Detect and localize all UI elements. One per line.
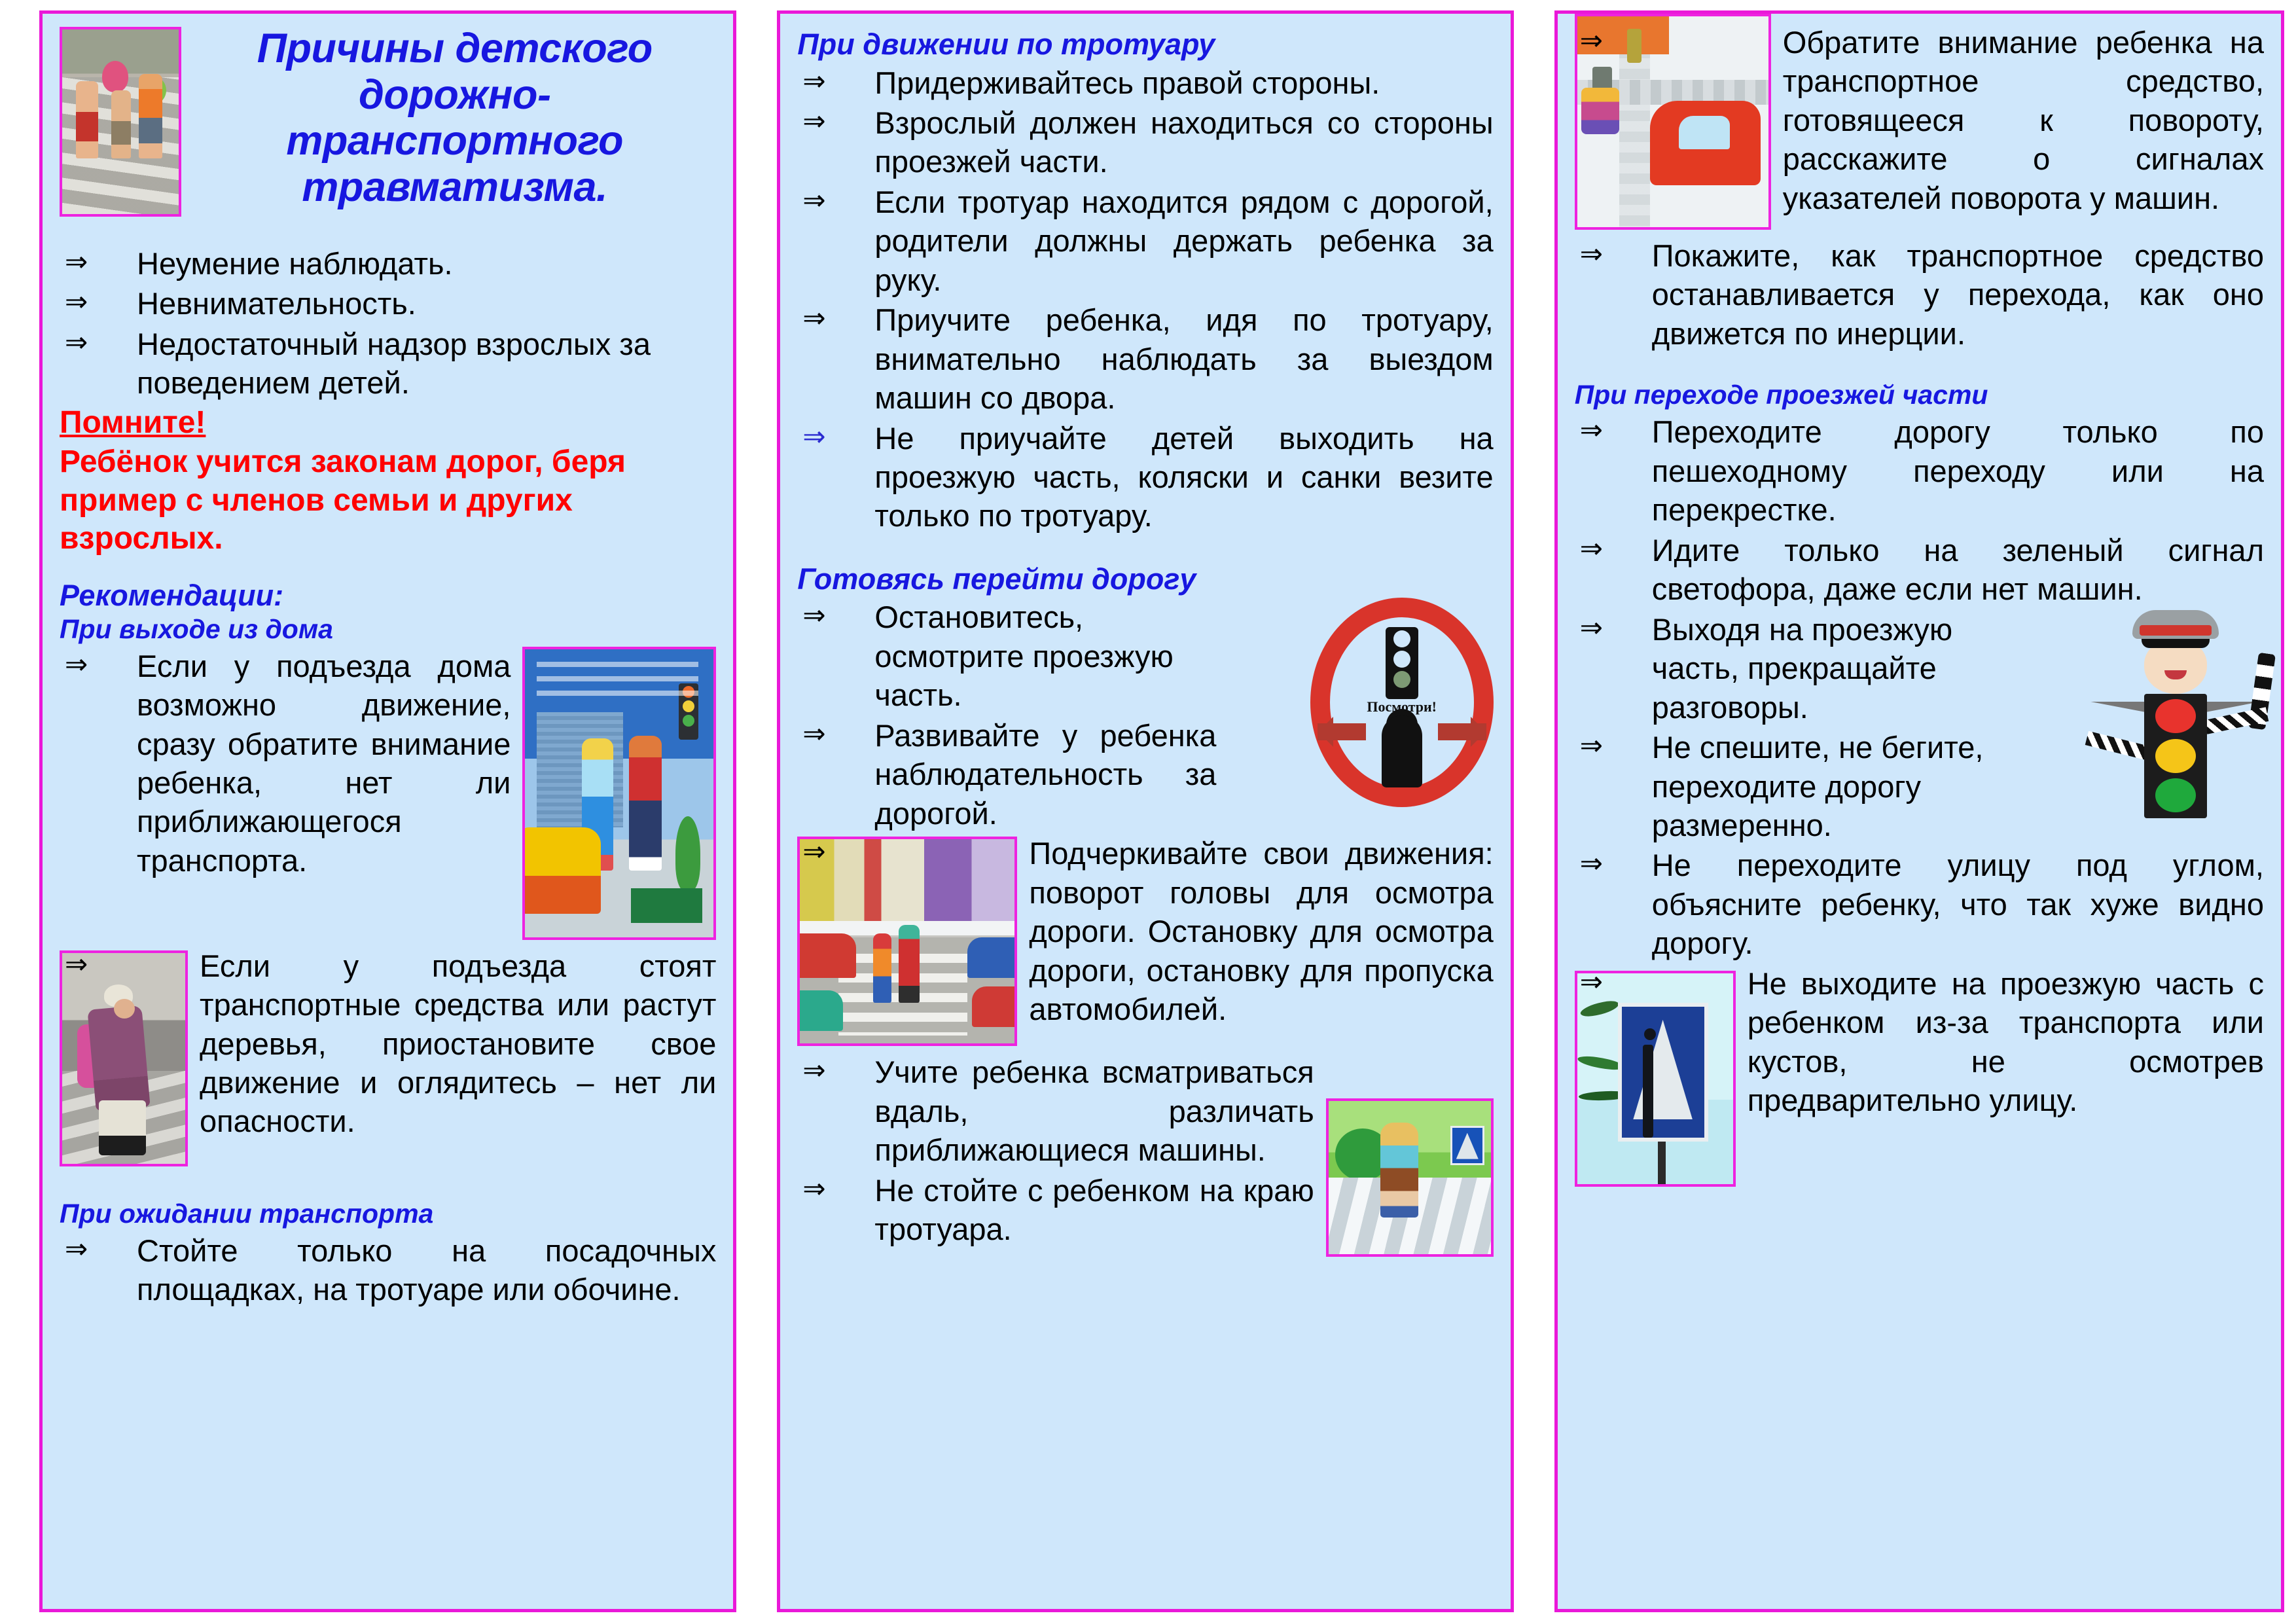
brochure-sheet: Причины детского дорожно-транспортного т…	[0, 0, 2296, 1624]
list-item: Выходя на проезжую часть, прекращайте ра…	[1575, 610, 2033, 727]
crossing-list-d: Не выходите на проезжую часть с ребенком…	[1575, 964, 2264, 1120]
preparing-cross-list-2: Подчеркивайте свои движения: поворот гол…	[797, 834, 1493, 1028]
remember-block: Помните! Ребёнок учится законам дорог, б…	[60, 404, 716, 558]
photo-children-crosswalk	[60, 27, 181, 217]
list-item: Идите только на зеленый сигнал светофора…	[1575, 531, 2264, 609]
panel-crossing: Обратите внимание ребенка на транспортно…	[1554, 10, 2284, 1612]
list-item: Не выходите на проезжую часть с ребенком…	[1575, 964, 2264, 1120]
list-item: Если тротуар находится рядом с дорогой, …	[797, 183, 1493, 299]
causes-list: Неумение наблюдать. Невнимательность. Не…	[60, 244, 716, 403]
list-item: Если у подъезда дома возможно движение, …	[60, 647, 716, 880]
illustration-policeman-traffic-light	[2087, 610, 2264, 826]
list-item: Неумение наблюдать.	[60, 244, 716, 283]
panel-causes: Причины детского дорожно-транспортного т…	[39, 10, 736, 1612]
list-item: Развивайте у ребенка наблюдательность за…	[797, 716, 1216, 833]
sidewalk-heading: При движении по тротуару	[797, 28, 1493, 61]
preparing-cross-list: Остановитесь, осмотрите проезжую часть. …	[797, 598, 1216, 833]
waiting-transport-heading: При ожидании транспорта	[60, 1199, 716, 1229]
list-item: Остановитесь, осмотрите проезжую часть.	[797, 598, 1216, 714]
recommendations-heading: Рекомендации:	[60, 579, 716, 612]
list-item: Недостаточный надзор взрослых за поведен…	[60, 325, 716, 403]
inertia-list: Покажите, как транспортное средство оста…	[1575, 236, 2264, 353]
list-item: Не приучайте детей выходить на проезжую …	[797, 419, 1493, 535]
list-item: Придерживайтесь правой стороны.	[797, 63, 1493, 102]
list-item: Подчеркивайте свои движения: поворот гол…	[797, 834, 1493, 1028]
list-item: Покажите, как транспортное средство оста…	[1575, 236, 2264, 353]
preparing-cross-list-3: Учите ребенка всматриваться вдаль, разли…	[797, 1053, 1493, 1248]
list-item: Приучите ребенка, идя по тротуару, внима…	[797, 300, 1493, 417]
list-item: Не переходите улицу под углом, объясните…	[1575, 846, 2264, 962]
list-item: Взрослый должен находиться со стороны пр…	[797, 103, 1493, 181]
leaving-home-list: Если у подъезда дома возможно движение, …	[60, 647, 716, 880]
list-item: Обратите внимание ребенка на транспортно…	[1575, 23, 2264, 217]
preparing-cross-heading: Готовясь перейти дорогу	[797, 563, 1493, 596]
turning-vehicle-list: Обратите внимание ребенка на транспортно…	[1575, 14, 2264, 217]
list-item: Не стойте с ребенком на краю тротуара.	[797, 1171, 1493, 1249]
list-item: Стойте только на посадочных площадках, н…	[60, 1231, 716, 1309]
sidewalk-list: Придерживайтесь правой стороны. Взрослый…	[797, 63, 1493, 535]
list-item: Невнимательность.	[60, 284, 716, 323]
list-item: Если у подъезда стоят транспортные средс…	[60, 947, 716, 1141]
crossing-roadway-heading: При переходе проезжей части	[1575, 380, 2264, 410]
title-block: Причины детского дорожно-транспортного т…	[60, 26, 716, 223]
leaving-home-heading: При выходе из дома	[60, 615, 716, 644]
leaving-home-list-2: Если у подъезда стоят транспортные средс…	[60, 947, 716, 1141]
crossing-list-a: Переходите дорогу только по пешеходному …	[1575, 412, 2264, 608]
remember-label: Помните!	[60, 405, 206, 440]
list-item: Учите ребенка всматриваться вдаль, разли…	[797, 1053, 1493, 1169]
crossing-list-c: Не переходите улицу под углом, объясните…	[1575, 846, 2264, 962]
list-item: Переходите дорогу только по пешеходному …	[1575, 412, 2264, 529]
sign-look-both-ways: Посмотри!	[1310, 598, 1494, 807]
waiting-transport-list: Стойте только на посадочных площадках, н…	[60, 1231, 716, 1309]
panel-sidewalk: При движении по тротуару Придерживайтесь…	[777, 10, 1513, 1612]
remember-text: Ребёнок учится законам дорог, беря приме…	[60, 443, 716, 558]
list-item: Не спешите, не бегите, переходите дорогу…	[1575, 728, 2033, 844]
crossing-list-b: Выходя на проезжую часть, прекращайте ра…	[1575, 610, 2033, 845]
